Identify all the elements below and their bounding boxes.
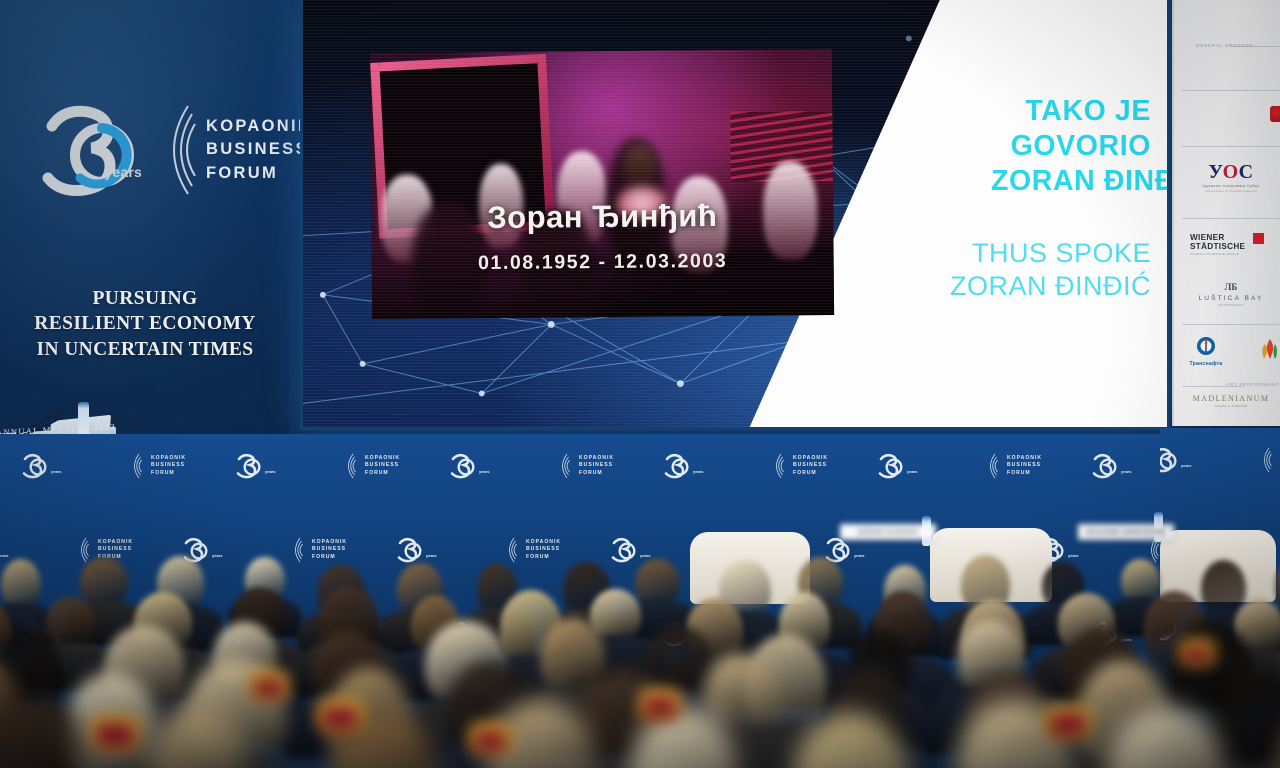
sponsor-wiener-staedtische: WIENER STÄDTISCHE VIENNA INSURANCE GROUP [1190, 234, 1270, 256]
general-sponsor-mark-icon [1270, 106, 1280, 122]
slide-subtitle-line-1: THUS SPOKE [913, 237, 1151, 270]
kopaonik-forum-logo: years KOPAONIK BUSINESS FORUM [34, 96, 284, 204]
logo-years-label: years [104, 164, 142, 180]
madlenianum-subtitle: OPERA & THEATRE [1188, 404, 1274, 408]
audience-chair-seat [254, 678, 284, 698]
transnafta-wordmark: Транснафта [1180, 361, 1232, 367]
slide-headline-serbian: TAKO JE GOVORIO ZORAN ĐINĐIĆ [991, 94, 1151, 198]
memorial-video-still: Зоран Ђинђић 01.08.1952 - 12.03.2003 [370, 49, 834, 319]
logo-word-kopaonik: KOPAONIK [206, 115, 312, 138]
logo-word-business: BUSINESS [206, 138, 312, 161]
sponsor-label-general: GENERAL SPONSOR [1196, 43, 1254, 48]
tagline-line-3: IN UNCERTAIN TIMES [0, 337, 290, 362]
transnafta-mark-icon [1196, 336, 1216, 356]
sponsor-label-art: ART PERFORMANCE [1226, 382, 1280, 387]
audience-chair-seat [1184, 646, 1210, 664]
backdrop-years-label: years [1181, 463, 1191, 468]
banner-tagline: PURSUING RESILIENT ECONOMY IN UNCERTAIN … [0, 286, 290, 362]
lustica-wordmark: LUŠTICA BAY [1188, 295, 1274, 302]
lustica-subtitle: MONTENEGRO [1188, 303, 1274, 307]
banner-sheen [0, 0, 290, 438]
led-presentation-screen: Зоран Ђинђић 01.08.1952 - 12.03.2003 TAK… [300, 0, 1170, 430]
madlenianum-wordmark: MADLENIANUM [1188, 394, 1274, 403]
memorial-name: Зоран Ђинђић [371, 197, 833, 237]
audience-chair-seat [474, 730, 506, 752]
logo-word-forum: FORUM [206, 162, 312, 185]
slide-subtitle-line-2: ZORAN ĐINĐIĆ [913, 270, 1151, 303]
sponsor-yoc: УОC Удружење осигуравача Србије Associat… [1188, 162, 1274, 193]
audience-chair-seat [644, 696, 676, 718]
thirty-years-mark-icon: years [34, 100, 146, 200]
slide-headline-line-1: TAKO JE [991, 94, 1151, 129]
sponsor-flame-mark-icon [1260, 338, 1280, 365]
yoc-subtitle-en: Association of Serbian Insurers [1188, 189, 1274, 193]
logo-wordmark: KOPAONIK BUSINESS FORUM [206, 115, 312, 185]
lustica-monogram-icon: ЛБ [1188, 282, 1274, 292]
video-face [623, 143, 657, 187]
wiener-square-icon [1253, 233, 1264, 244]
memorial-dates: 01.08.1952 - 12.03.2003 [372, 249, 834, 276]
slide-headline-line-3: ZORAN ĐINĐIĆ [991, 164, 1151, 199]
audience-chair-seat [1050, 712, 1086, 736]
sponsor-board: GENERAL SPONSOR ART PERFORMANCE УОC Удру… [1172, 0, 1280, 426]
audience [0, 470, 1280, 768]
yoc-wordmark: УОC [1188, 162, 1274, 182]
sponsor-transnafta: Транснафта [1180, 336, 1232, 367]
audience-chair-seat [96, 722, 134, 748]
tagline-line-1: PURSUING [0, 286, 290, 311]
yoc-subtitle-sr: Удружење осигуравача Србије [1188, 184, 1274, 188]
conference-photo-scene: years KOPAONIK BUSINESS FORUM PURSUING R… [0, 0, 1280, 768]
sponsor-lustica-bay: ЛБ LUŠTICA BAY MONTENEGRO [1188, 282, 1274, 307]
audience-chair-seat [322, 706, 358, 730]
wiener-subtitle: VIENNA INSURANCE GROUP [1190, 252, 1270, 256]
sponsor-madlenianum: MADLENIANUM OPERA & THEATRE [1188, 394, 1274, 408]
left-banner: years KOPAONIK BUSINESS FORUM PURSUING R… [0, 0, 290, 438]
logo-arcs-icon [148, 100, 196, 200]
tagline-line-2: RESILIENT ECONOMY [0, 311, 290, 336]
slide-headline-english: THUS SPOKE ZORAN ĐINĐIĆ [913, 237, 1151, 304]
slide-headline-line-2: GOVORIO [991, 129, 1151, 164]
